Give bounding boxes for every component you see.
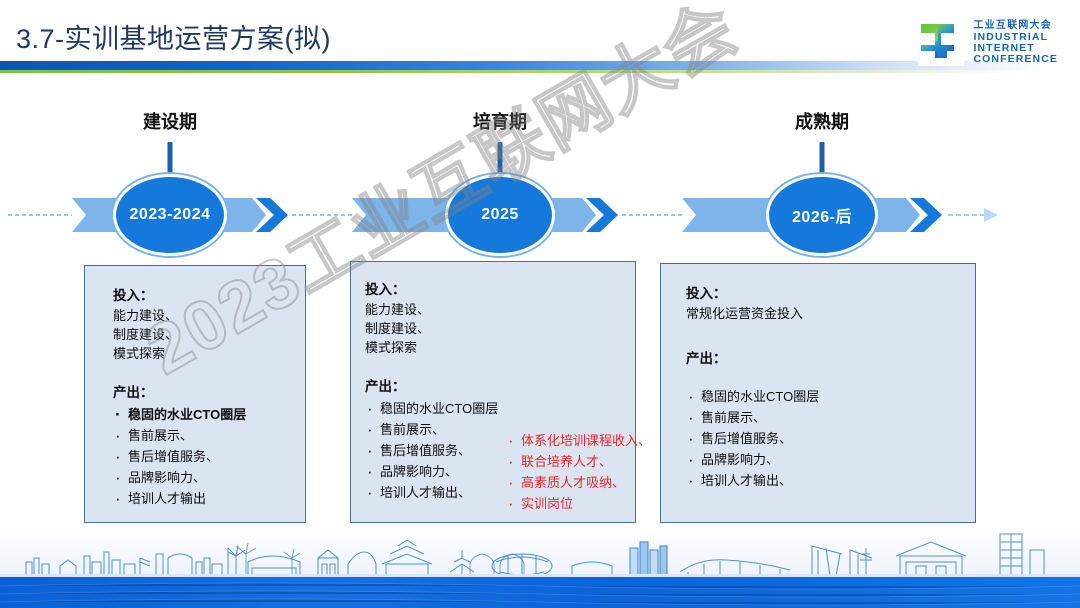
card-2-output-red-list: 体系化培训课程收入、 联合培养人才、 高素质人才吸纳、 实训岗位 <box>506 430 651 514</box>
stage-label-2: 培育期 <box>473 108 527 134</box>
timeline-node-3[interactable]: 2026-后 <box>769 177 875 253</box>
card-3-output-item-3: 售后增值服务、 <box>686 428 819 449</box>
card-2-output-item-1: 稳固的水业CTO圈层 <box>365 398 498 419</box>
card-3-input-head: 投入： <box>686 282 803 302</box>
card-2-output-red-item-1: 体系化培训课程收入、 <box>506 430 651 451</box>
card-1-input-line-2: 制度建设、 <box>113 326 178 345</box>
card-1-input-line-3: 模式探索 <box>113 345 178 364</box>
card-2-output-list: 稳固的水业CTO圈层 售前展示、 售后增值服务、 品牌影响力、 培训人才输出、 <box>365 398 498 503</box>
conference-logo: 工业互联网大会 INDUSTRIAL INTERNET CONFERENCE <box>918 20 1058 66</box>
card-3-input-line-1: 常规化运营资金投入 <box>686 305 803 324</box>
card-1-output-list: 稳固的水业CTO圈层 售前展示、 售后增值服务、 品牌影响力、 培训人才输出 <box>113 404 246 509</box>
timeline: 建设期 2023-2024 培育期 2025 成熟期 2026-后 <box>0 150 1080 260</box>
card-1-input-line-1: 能力建设、 <box>113 307 178 326</box>
card-3-output-head: 产出： <box>686 347 727 367</box>
timeline-node-1[interactable]: 2023-2024 <box>116 177 224 253</box>
card-3-output-list: 稳固的水业CTO圈层 售前展示、 售后增值服务、 品牌影响力、 培训人才输出、 <box>686 386 819 491</box>
card-3-output-item-1: 稳固的水业CTO圈层 <box>686 386 819 407</box>
timeline-node-3-label: 2026-后 <box>792 203 852 227</box>
card-2-output-red-item-4: 实训岗位 <box>506 493 651 514</box>
stage-stem-2 <box>498 142 503 180</box>
phase-card-2: 投入： 能力建设、 制度建设、 模式探索 产出： 稳固的水业CTO圈层 售前展示… <box>350 261 636 523</box>
slide: 3.7-实训基地运营方案(拟) <box>0 0 1080 608</box>
card-2-output-head: 产出： <box>365 375 498 395</box>
card-1-output-item-4: 品牌影响力、 <box>113 467 246 488</box>
stage-label-1: 建设期 <box>143 108 197 134</box>
footer-skyline-decoration <box>0 528 1080 608</box>
card-1-output-item-3: 售后增值服务、 <box>113 446 246 467</box>
card-2-output-red-item-3: 高素质人才吸纳、 <box>506 472 651 493</box>
phase-card-1: 投入： 能力建设、 制度建设、 模式探索 产出： 稳固的水业CTO圈层 售前展示… <box>84 265 306 523</box>
card-2-input-line-2: 制度建设、 <box>365 320 430 339</box>
stage-stem-1 <box>168 142 173 180</box>
stage-stem-3 <box>820 142 825 180</box>
card-2-input-head: 投入： <box>365 278 430 298</box>
phase-card-3: 投入： 常规化运营资金投入 产出： 稳固的水业CTO圈层 售前展示、 售后增值服… <box>660 263 976 523</box>
card-2-input-line-3: 模式探索 <box>365 339 430 358</box>
card-2-output-item-2: 售前展示、 <box>365 419 498 440</box>
logo-i-mark-icon <box>918 20 964 66</box>
card-2-output-item-5: 培训人才输出、 <box>365 482 498 503</box>
card-3-output-item-2: 售前展示、 <box>686 407 819 428</box>
timeline-node-1-label: 2023-2024 <box>129 206 210 224</box>
card-2-output-red-item-2: 联合培养人才、 <box>506 451 651 472</box>
card-1-output-item-5: 培训人才输出 <box>113 488 246 509</box>
page-title: 3.7-实训基地运营方案(拟) <box>16 17 331 56</box>
stage-label-3: 成熟期 <box>795 108 849 134</box>
card-1-output-item-highlight: 稳固的水业CTO圈层 <box>113 404 246 425</box>
card-1-output-item-2: 售前展示、 <box>113 425 246 446</box>
card-1-output-head: 产出： <box>113 381 246 401</box>
card-2-input-line-1: 能力建设、 <box>365 301 430 320</box>
timeline-node-2[interactable]: 2025 <box>448 177 552 253</box>
card-2-output-item-3: 售后增值服务、 <box>365 440 498 461</box>
card-3-output-item-5: 培训人才输出、 <box>686 470 819 491</box>
timeline-node-2-label: 2025 <box>481 206 519 224</box>
logo-name-cn: 工业互联网大会 <box>973 21 1058 31</box>
card-1-input-head: 投入： <box>113 284 178 304</box>
card-2-output-item-4: 品牌影响力、 <box>365 461 498 482</box>
logo-line-3: CONFERENCE <box>973 54 1058 65</box>
card-3-output-item-4: 品牌影响力、 <box>686 449 819 470</box>
header-divider-green <box>0 70 1080 73</box>
